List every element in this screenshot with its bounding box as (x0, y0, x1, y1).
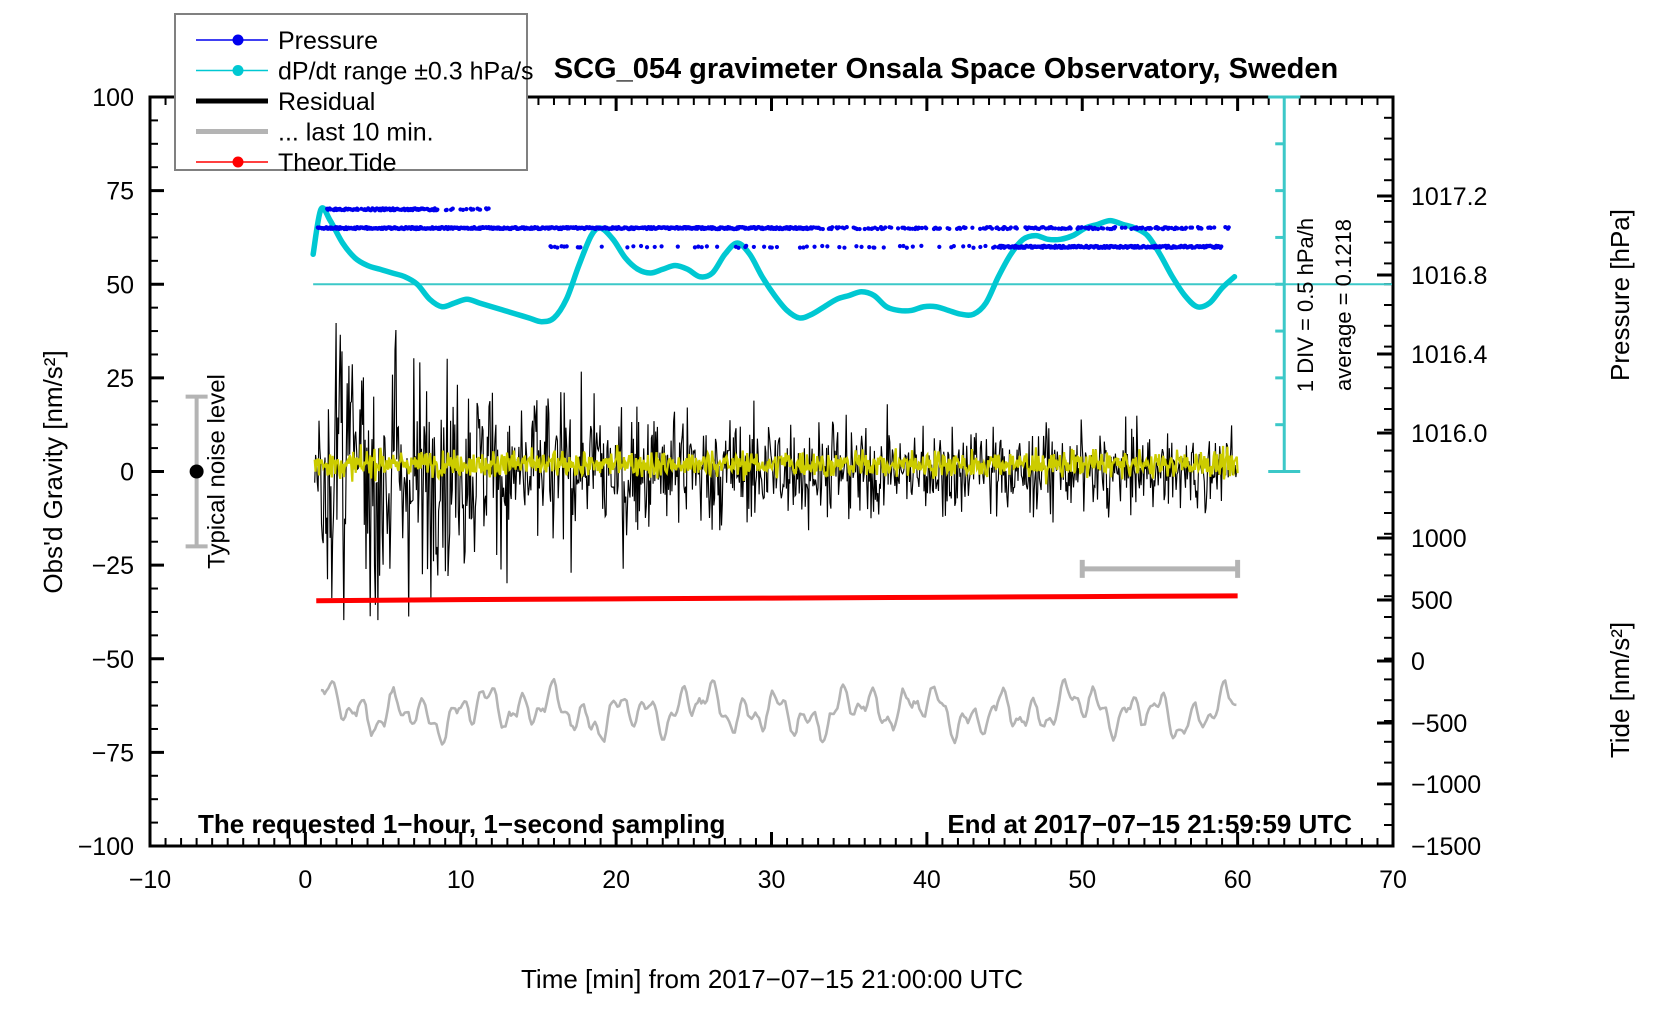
legend-label: dP/dt range ±0.3 hPa/s (278, 58, 534, 86)
legend-marker-dot (233, 35, 244, 46)
x-tick-label: 30 (758, 866, 786, 894)
legend-label: Residual (278, 88, 375, 116)
right-axis-title-tide: Tide [nm/s²] (1605, 622, 1635, 758)
y-tick-label: −25 (92, 552, 134, 580)
y-tick-label: 50 (106, 271, 134, 299)
y-tick-label: 100 (92, 84, 134, 112)
right-axis-title-pressure: Pressure [hPa] (1605, 209, 1635, 381)
y-tick-label: 0 (120, 459, 134, 487)
x-tick-label: −10 (129, 866, 171, 894)
x-tick-label: 20 (602, 866, 630, 894)
right-tick-label: 1016.0 (1411, 420, 1487, 448)
right-tick-label: 0 (1411, 648, 1425, 676)
right-tick-label: 1016.8 (1411, 262, 1487, 290)
right-tick-label: 500 (1411, 587, 1453, 615)
gravimeter-chart: −10010203040506070 1007550250−25−50−75−1… (0, 0, 1676, 1020)
y-tick-label: −75 (92, 739, 134, 767)
x-tick-label: 40 (913, 866, 941, 894)
legend-label: Theor.Tide (278, 149, 397, 177)
div-scale-label: 1 DIV = 0.5 hPa/h (1293, 218, 1318, 392)
x-tick-label: 10 (447, 866, 475, 894)
chart-root: −10010203040506070 1007550250−25−50−75−1… (0, 0, 1676, 1020)
legend-marker-dot (233, 157, 244, 168)
legend-label: Pressure (278, 27, 378, 55)
chart-title: SCG_054 gravimeter Onsala Space Observat… (554, 53, 1338, 85)
right-tick-label: −500 (1411, 710, 1467, 738)
right-tick-label: 1000 (1411, 525, 1467, 553)
y-tick-label: −100 (78, 833, 134, 861)
end-time-note: End at 2017−07−15 21:59:59 UTC (947, 809, 1352, 839)
x-tick-label: 50 (1068, 866, 1096, 894)
right-tick-label: 1016.4 (1411, 341, 1488, 369)
legend-marker-dot (233, 65, 244, 76)
right-tick-label: −1500 (1411, 833, 1481, 861)
typical-noise-level-label: Typical noise level (204, 374, 231, 569)
x-tick-label: 70 (1379, 866, 1407, 894)
x-axis-title: Time [min] from 2017−07−15 21:00:00 UTC (521, 964, 1023, 994)
dpdt-average-label: average = 0.1218 (1331, 219, 1356, 391)
right-tick-label: −1000 (1411, 771, 1481, 799)
x-tick-label: 0 (298, 866, 312, 894)
y-tick-label: 75 (106, 178, 134, 206)
y-axis-title: Obs'd Gravity [nm/s²] (38, 350, 68, 593)
x-tick-label: 60 (1224, 866, 1252, 894)
legend: PressuredP/dt range ±0.3 hPa/sResidual..… (175, 14, 534, 177)
y-tick-label: −50 (92, 646, 134, 674)
legend-label: ... last 10 min. (278, 119, 434, 147)
y-tick-label: 25 (106, 365, 134, 393)
sampling-note: The requested 1−hour, 1−second sampling (198, 809, 725, 839)
right-tick-label: 1017.2 (1411, 183, 1487, 211)
